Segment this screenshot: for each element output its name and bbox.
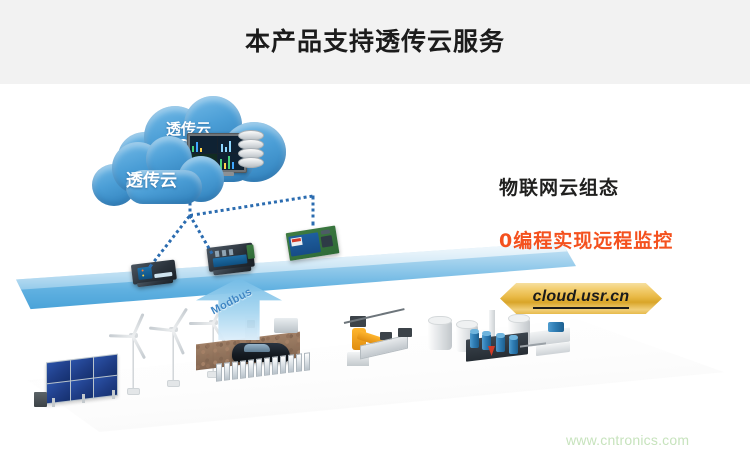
solar-cell <box>71 358 94 380</box>
watermark: www.cntronics.com <box>566 432 689 448</box>
cloud-front-label: 透传云 <box>126 166 177 191</box>
control-cabinet <box>274 318 298 333</box>
wind-turbine <box>152 316 196 388</box>
url-ribbon-text[interactable]: cloud.usr.cn <box>533 288 630 309</box>
solar-cell <box>47 361 70 383</box>
right-panel-subheading: 0编程实现远程监控 <box>499 226 673 253</box>
connector-line <box>312 196 315 226</box>
slide-canvas: 本产品支持透传云服务 <box>0 0 750 459</box>
wind-turbine <box>112 322 156 394</box>
gateway-device <box>206 240 260 280</box>
right-panel-heading: 物联网云组态 <box>499 173 619 200</box>
cloud-transparent-transmission: 透传云 <box>92 136 224 206</box>
solar-inverter <box>34 392 47 407</box>
url-ribbon-label[interactable]: cloud.usr.cn <box>500 283 662 314</box>
blue-tank <box>548 322 564 332</box>
solar-cell <box>47 381 70 403</box>
database-stack-icon <box>238 130 264 172</box>
page-title: 本产品支持透传云服务 <box>0 22 750 58</box>
connector-line <box>189 215 214 255</box>
